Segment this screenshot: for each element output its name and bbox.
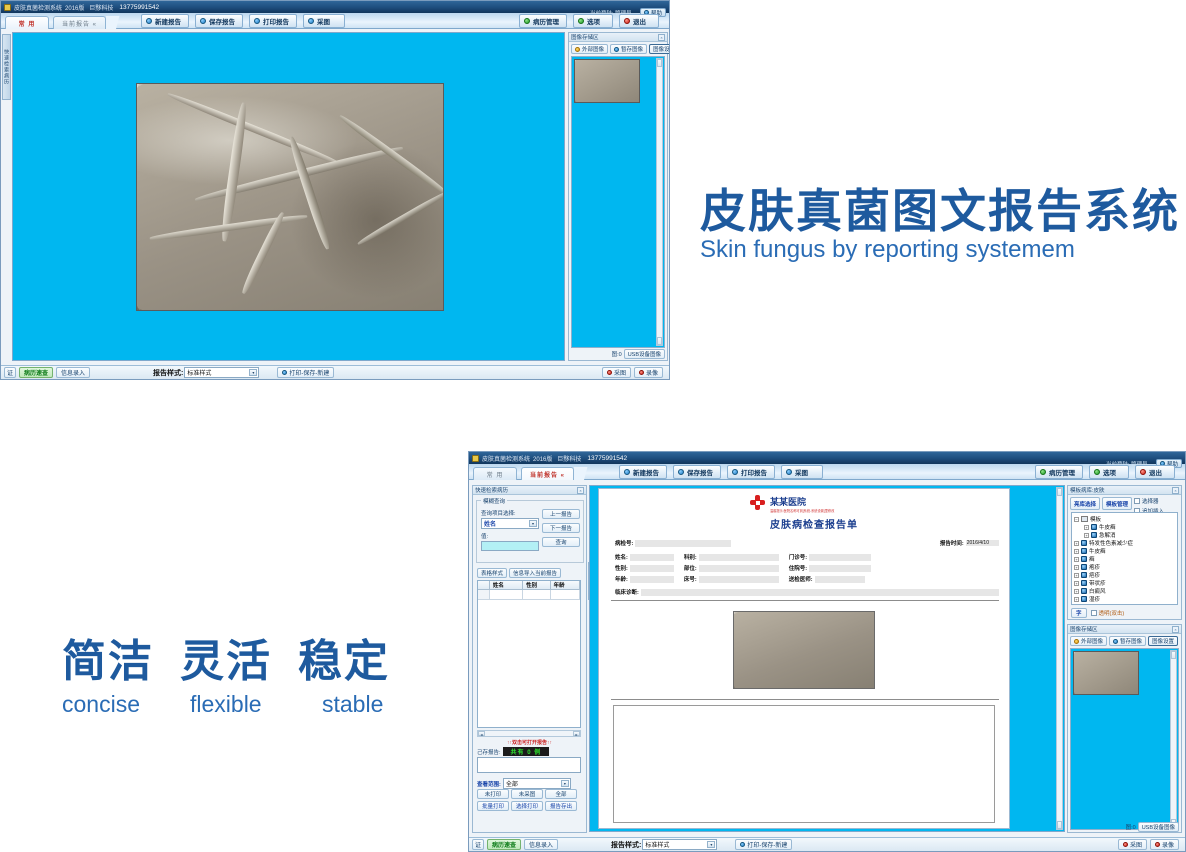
tree-node[interactable]: + 牛皮癣 [1074, 547, 1175, 555]
gender-label: 性别: [615, 564, 628, 572]
marketing-headline-en: Skin fungus by reporting systemem [700, 236, 1180, 264]
print-report-icon [732, 469, 738, 475]
save-report-icon [678, 469, 684, 475]
left-side-strip-label: 快速检索病历 [3, 49, 10, 85]
window2-image-settings-label: 图像设置 [1152, 637, 1174, 645]
report-divider-2 [611, 699, 999, 700]
import-to-report-button[interactable]: 信息导入当前报告 [509, 568, 561, 578]
window2-image-store-close-box[interactable]: × [1172, 626, 1179, 633]
window2-print-save-new-button[interactable]: 打印-保存-新建 [735, 839, 792, 850]
report-canvas-scrollbar[interactable] [1056, 487, 1063, 830]
window2-image-store-header: 图像存储区 × [1068, 625, 1181, 634]
exit-label: 退出 [633, 16, 646, 26]
new-report-button[interactable]: 新建报告 [141, 14, 189, 28]
tree-expand-icon[interactable]: + [1084, 533, 1089, 538]
patient-fields-left: 姓名: 性别: 年龄: [615, 553, 674, 583]
name-label: 姓名: [615, 553, 628, 561]
site-value[interactable] [699, 565, 779, 572]
window2-record-label: 录像 [1162, 840, 1174, 849]
window2-tab-current-report[interactable]: 当前报告 « [521, 467, 574, 480]
diagnosis-label: 临床诊断: [615, 588, 639, 596]
font-button[interactable]: 字 [1071, 608, 1087, 618]
thumbnail-item[interactable] [1073, 651, 1139, 695]
transparent-checkbox[interactable] [1091, 610, 1097, 616]
window2-external-image-label: 外部图像 [1081, 637, 1103, 645]
tree-node-label: 急解消 [1099, 531, 1116, 539]
inpatient-no-field: 住院号: [789, 564, 871, 572]
window2-title-company: 巨黟科技 [557, 454, 581, 463]
feature-cn-2: 灵活 [180, 625, 272, 689]
diagnosis-value[interactable] [641, 589, 999, 596]
hospital-cross-icon [750, 495, 765, 510]
window2-case-management-label: 病历管理 [1049, 467, 1075, 477]
print-save-new-button[interactable]: 打印-保存-新建 [277, 367, 334, 378]
results-col-age: 年龄 [551, 581, 580, 590]
print-report-button[interactable]: 打印报告 [249, 14, 297, 28]
tree-node[interactable]: + 疱疹 [1074, 563, 1175, 571]
book-icon [1081, 540, 1087, 546]
window2-capture-image-label: 采图 [795, 467, 808, 477]
window2-image-store-panel: 图像存储区 × 外部图像 暂存图像 图像设置 [1067, 624, 1182, 833]
patient-fields-right: 门诊号: 住院号: 送检医师: [789, 553, 871, 583]
tree-node[interactable]: + 特发性色素减少症 [1074, 539, 1175, 547]
results-grid-hscroll[interactable]: ◂ ▸ [477, 730, 581, 737]
case-management-label: 病历管理 [533, 16, 559, 26]
book-icon [1081, 564, 1087, 570]
temp-image-label: 暂存图像 [621, 45, 643, 53]
options-icon [1094, 469, 1100, 475]
bed-value[interactable] [699, 576, 779, 583]
diagnosis-field: 临床诊断: [615, 588, 999, 596]
filter-buttons-row: 未打印 未采图 全部 [477, 789, 577, 799]
results-col-name: 姓名 [490, 581, 523, 590]
tree-node-label: 特发性色素减少症 [1089, 539, 1133, 547]
diagnosis-row: 临床诊断: [615, 588, 999, 596]
capture-status-icon [607, 370, 612, 375]
tree-node[interactable]: + 白癜风 [1074, 587, 1175, 595]
search-results-grid[interactable]: 姓名 性别 年龄 [477, 580, 581, 728]
window2-title-phone: 13775991542 [587, 455, 627, 462]
uncaptured-filter-button[interactable]: 未采图 [511, 789, 543, 799]
book-icon [1081, 596, 1087, 602]
tree-expand-icon[interactable]: + [1084, 525, 1089, 530]
cert-label: 证 [7, 368, 13, 377]
window2-quick-search-label: 病历速查 [492, 840, 516, 849]
tree-node-label: 带状疹 [1089, 579, 1106, 587]
window2-print-report-label: 打印报告 [741, 467, 767, 477]
template-tree[interactable]: − 模板 + 牛皮癣 + 急解消 + 特发性色素减少症 + [1071, 512, 1178, 605]
feature-en-2: flexible [190, 691, 298, 718]
font-button-label: 字 [1076, 609, 1082, 617]
record-button[interactable]: 录像 [634, 367, 663, 378]
template-library-close-box[interactable]: × [1172, 487, 1179, 494]
tree-node[interactable]: + 牛皮癣 [1074, 523, 1175, 531]
image-store-footer: 图:0 USB设备图像 [571, 349, 665, 359]
capture-image-button[interactable]: 采图 [303, 14, 345, 28]
quick-search-label: 病历速查 [24, 368, 48, 377]
window2-save-report-button[interactable]: 保存报告 [673, 465, 721, 479]
exit-icon [624, 18, 630, 24]
selector-checkbox-row[interactable]: 选择器 [1134, 497, 1164, 505]
patient-fields-mid: 科别: 部位: 床号: [684, 553, 779, 583]
name-value[interactable] [630, 554, 674, 561]
record-label: 录像 [646, 368, 658, 377]
report-findings-box[interactable] [613, 705, 995, 823]
patient-fields: 姓名: 性别: 年龄: 科别: [615, 553, 999, 583]
tree-expand-icon[interactable]: + [1074, 573, 1079, 578]
view-range-row: 查看范围: 全部 ▾ [477, 778, 571, 789]
image-store-panel: 图像存储区 × 外部图像 暂存图像 图像设置 图:0 USB设备图像 [568, 32, 668, 361]
window2-new-report-button[interactable]: 新建报告 [619, 465, 667, 479]
window2-ribbon-right-buttons: 病历管理 选项 退出 [1035, 465, 1175, 479]
tree-expand-icon[interactable]: + [1074, 581, 1079, 586]
folder-icon [1081, 516, 1088, 522]
stored-report-row: 己存报告: 共有 0 例 [477, 747, 549, 756]
thumbnail-area[interactable] [571, 56, 665, 348]
marketing-features-block: 简洁 灵活 稳定 concise flexible stable [62, 625, 422, 718]
report-style-label: 报告样式: [153, 368, 183, 378]
case-no-field: 病检号: [615, 539, 731, 547]
window2-titlebar: 皮肤真菌检测系统 2016版 巨黟科技 13775991542 [469, 452, 1185, 464]
tab-common-label: 常 用 [19, 19, 36, 28]
all-filter-button[interactable]: 全部 [545, 789, 577, 799]
printer-icon [740, 842, 745, 847]
tree-expand-icon[interactable]: + [1074, 541, 1079, 546]
inpatient-no-value[interactable] [809, 565, 871, 572]
window2-info-entry-label: 信息录入 [529, 840, 553, 849]
book-icon [1081, 556, 1087, 562]
results-grid-header: 姓名 性别 年龄 [478, 581, 580, 590]
tab-current-report-label: 当前报告 « [62, 19, 97, 28]
window2-case-management-button[interactable]: 病历管理 [1035, 465, 1083, 479]
window2-new-report-label: 新建报告 [633, 467, 659, 477]
batch-print-label: 批量打印 [482, 802, 504, 810]
usb-device-image-label: USB设备图像 [628, 350, 661, 358]
window2-title-main: 皮肤真菌检测系统 [482, 454, 530, 463]
capture-status-button[interactable]: 采图 [602, 367, 631, 378]
window2-tab-common-label: 常 用 [487, 470, 504, 479]
capture-icon [308, 18, 314, 24]
template-footer: 字 透明(双击) [1071, 608, 1124, 618]
referring-doctor-label: 送检医师: [789, 575, 813, 583]
window2-exit-button[interactable]: 退出 [1135, 465, 1175, 479]
library-select-label: 亮库选择 [1074, 500, 1096, 508]
tree-node-label: 白癜风 [1089, 587, 1106, 595]
tree-node-label: 癣 [1089, 555, 1095, 563]
case-no-value[interactable] [635, 540, 731, 547]
exit-button[interactable]: 退出 [619, 14, 659, 28]
report-header: 某某医院 温馨提示:医院名称可到[系统-系统设置]里修改 皮肤病检查报告单 [599, 489, 1009, 531]
window-title-version: 2016版 [65, 3, 84, 12]
book-icon [1081, 572, 1087, 578]
usb-device-image-button[interactable]: USB设备图像 [624, 349, 665, 359]
tree-node[interactable]: − 模板 [1074, 515, 1175, 523]
window2-usb-device-image-label: USB设备图像 [1142, 823, 1175, 831]
window2-report-style-value: 标准样式 [645, 840, 669, 849]
chevron-down-icon[interactable]: ▾ [249, 369, 257, 376]
selector-checkbox[interactable] [1134, 498, 1140, 504]
marketing-headline-block: 皮肤真菌图文报告系统 Skin fungus by reporting syst… [700, 186, 1180, 264]
options-label: 选项 [587, 16, 600, 26]
tree-node[interactable]: + 急解消 [1074, 531, 1175, 539]
window2-ribbon: 常 用 当前报告 « 新建报告 保存报告 打印报告 采图 [469, 464, 1185, 480]
record-icon [639, 370, 644, 375]
outpatient-no-label: 门诊号: [789, 553, 807, 561]
feature-en-1: concise [62, 691, 166, 718]
window2-quick-search-button[interactable]: 病历速查 [487, 839, 521, 850]
window2-tab-common[interactable]: 常 用 [473, 467, 517, 480]
template-manage-label: 模板管理 [1106, 500, 1128, 508]
options-button[interactable]: 选项 [573, 14, 613, 28]
tree-expand-icon[interactable]: + [1074, 589, 1079, 594]
department-value[interactable] [699, 554, 779, 561]
window2-image-count-label: 图:0 [1126, 823, 1136, 831]
quick-search-title: 快速检索病历 [475, 486, 508, 494]
template-library-panel: 模板病库:皮肤 × 亮库选择 模板管理 选择器 追加插入 [1067, 485, 1182, 620]
folder-icon [575, 47, 580, 52]
microscope-image [136, 83, 444, 311]
tree-node-label: 牛皮癣 [1099, 523, 1116, 531]
outpatient-no-field: 门诊号: [789, 553, 871, 561]
info-entry-label: 信息录入 [61, 368, 85, 377]
batch-actions-row: 批量打印 选择打印 报告存出 [477, 801, 577, 811]
uncaptured-filter-label: 未采图 [519, 790, 536, 798]
book-icon [1081, 580, 1087, 586]
all-filter-label: 全部 [555, 790, 566, 798]
hospital-subtitle: 温馨提示:医院名称可到[系统-系统设置]里修改 [770, 508, 858, 513]
options-icon [578, 18, 584, 24]
window2-statusbar: 证 病历速查 信息录入 报告样式: 标准样式 ▾ 打印-保存-新建 采图 录像 [469, 837, 1185, 851]
window2-image-store-title: 图像存储区 [1070, 625, 1098, 633]
referring-doctor-field: 送检医师: [789, 575, 871, 583]
window2-capture-status-label: 采图 [1130, 840, 1142, 849]
field-select-dropdown[interactable]: 姓名 ▾ [481, 518, 539, 529]
gender-field: 性别: [615, 564, 674, 572]
thumbnail-scrollbar[interactable] [656, 58, 663, 346]
window2-cert-button[interactable]: 证 [472, 839, 484, 850]
capture-status-label: 采图 [614, 368, 626, 377]
window2-report-style-select[interactable]: 标准样式 ▾ [642, 839, 717, 850]
referring-doctor-value[interactable] [815, 576, 865, 583]
table-style-label: 表格样式 [481, 569, 503, 577]
template-library-title: 模板病库:皮肤 [1070, 486, 1105, 494]
view-range-value: 全部 [506, 779, 518, 788]
department-field: 科别: [684, 553, 779, 561]
tree-node-label: 疱疹 [1089, 563, 1100, 571]
save-report-label: 保存报告 [209, 16, 235, 26]
window2-thumbnail-area[interactable] [1070, 648, 1179, 830]
results-grid-corner [478, 581, 490, 590]
case-management-icon [1040, 469, 1046, 475]
chevron-down-icon[interactable]: ▾ [707, 841, 715, 848]
quick-search-button[interactable]: 病历速查 [19, 367, 53, 378]
cert-button[interactable]: 证 [4, 367, 16, 378]
results-col-gender: 性别 [523, 581, 550, 590]
tree-node[interactable]: + 带状疹 [1074, 579, 1175, 587]
thumbnail-item[interactable] [574, 59, 640, 103]
save-report-button[interactable]: 保存报告 [195, 14, 243, 28]
tree-node[interactable]: + 癣 [1074, 555, 1175, 563]
template-library-header: 模板病库:皮肤 × [1068, 486, 1181, 495]
print-report-label: 打印报告 [263, 16, 289, 26]
window2-exit-label: 退出 [1149, 467, 1162, 477]
report-canvas[interactable]: 某某医院 温馨提示:医院名称可到[系统-系统设置]里修改 皮肤病检查报告单 病检… [589, 485, 1065, 832]
window-titlebar: 皮肤真菌检测系统 2016版 巨黟科技 13775991542 [1, 1, 669, 13]
report-time-label: 报告时间: [940, 539, 964, 547]
window2-tab-current-report-label: 当前报告 « [530, 470, 565, 479]
report-style-select[interactable]: 标准样式 ▾ [184, 367, 259, 378]
chevron-down-icon[interactable]: ▾ [529, 520, 537, 527]
image-settings-label: 图像设置 [653, 45, 670, 53]
window2-options-label: 选项 [1103, 467, 1116, 477]
memo-input[interactable] [477, 757, 581, 773]
hospital-name: 某某医院 [770, 495, 858, 508]
ribbon-tabstrip: 常 用 当前报告 « [1, 15, 130, 29]
window2-report-style-label: 报告样式: [611, 840, 641, 850]
book-icon [1081, 548, 1087, 554]
feature-cn-3: 稳定 [298, 625, 390, 689]
window2-title-version: 2016版 [533, 454, 552, 463]
prev-report-label: 上一报告 [550, 510, 572, 518]
chevron-down-icon[interactable]: ▾ [561, 780, 569, 787]
window2-temp-image-button[interactable]: 暂存图像 [1109, 636, 1146, 646]
window2-record-button[interactable]: 录像 [1150, 839, 1179, 850]
book-icon [1091, 532, 1097, 538]
image-store-close-box[interactable]: × [658, 34, 665, 41]
ribbon-buttons: 新建报告 保存报告 打印报告 采图 [141, 14, 345, 28]
table-row[interactable] [478, 590, 580, 600]
case-management-button[interactable]: 病历管理 [519, 14, 567, 28]
tree-node-label: 疤疹 [1089, 571, 1100, 579]
age-field: 年龄: [615, 575, 674, 583]
quick-search-actions: 表格样式 信息导入当前报告 [477, 568, 561, 578]
tree-expand-icon[interactable]: + [1074, 565, 1079, 570]
case-row: 病检号: 报告时间: 2016/4/10 [615, 539, 999, 547]
search-button[interactable]: 查询 [542, 537, 580, 547]
view-range-select[interactable]: 全部 ▾ [503, 778, 571, 789]
window2-temp-image-label: 暂存图像 [1120, 637, 1142, 645]
export-report-label: 报告存出 [550, 802, 572, 810]
search-label: 查询 [555, 538, 566, 546]
bed-field: 床号: [684, 575, 779, 583]
report-time-field: 报告时间: 2016/4/10 [940, 539, 999, 547]
window2-print-save-new-label: 打印-保存-新建 [747, 840, 787, 849]
folder-icon [1074, 639, 1079, 644]
new-report-icon [146, 18, 152, 24]
tree-expand-icon[interactable]: + [1074, 557, 1079, 562]
window2-save-report-label: 保存报告 [687, 467, 713, 477]
ribbon: 常 用 当前报告 « 新建报告 保存报告 打印报告 采图 [1, 13, 669, 29]
inpatient-no-label: 住院号: [789, 564, 807, 572]
tree-node[interactable]: + 湿疹 [1074, 595, 1175, 603]
feature-cn-1: 简洁 [62, 625, 154, 689]
export-report-button[interactable]: 报告存出 [545, 801, 577, 811]
window2-image-store-toolbar: 外部图像 暂存图像 图像设置 [1068, 634, 1181, 648]
window2-image-store-footer: 图:0 USB设备图像 [1126, 822, 1179, 832]
window2-external-image-button[interactable]: 外部图像 [1070, 636, 1107, 646]
report-style-value: 标准样式 [187, 368, 211, 377]
case-no-label: 病检号: [615, 539, 633, 547]
left-side-strip[interactable]: 快速检索病历 [2, 34, 11, 100]
window2-options-button[interactable]: 选项 [1089, 465, 1129, 479]
image-store-title: 图像存储区 [571, 33, 599, 41]
template-manage-button[interactable]: 模板管理 [1102, 497, 1132, 510]
department-label: 科别: [684, 553, 697, 561]
fuzzy-query-legend: 模糊查询 [481, 497, 507, 505]
age-label: 年龄: [615, 575, 628, 583]
tab-common[interactable]: 常 用 [5, 16, 49, 29]
image-store-toolbar: 外部图像 暂存图像 图像设置 [569, 42, 667, 56]
window2-print-report-button[interactable]: 打印报告 [727, 465, 775, 479]
window2-thumbnail-scrollbar[interactable] [1170, 650, 1177, 828]
print-report-icon [254, 18, 260, 24]
statusbar: 证 病历速查 信息录入 报告样式: 标准样式 ▾ 打印-保存-新建 采图 录像 [1, 365, 669, 379]
window2-image-settings-button[interactable]: 图像设置 [1148, 636, 1178, 646]
quick-search-close-box[interactable]: × [577, 487, 584, 494]
window2-usb-device-image-button[interactable]: USB设备图像 [1138, 822, 1179, 832]
case-management-icon [524, 18, 530, 24]
library-select-button[interactable]: 亮库选择 [1070, 497, 1100, 510]
report-time-value: 2016/4/10 [966, 540, 999, 546]
select-print-button[interactable]: 选择打印 [511, 801, 543, 811]
tree-expand-icon[interactable]: + [1074, 549, 1079, 554]
report-microscope-image[interactable] [733, 611, 875, 689]
window2-capture-status-button[interactable]: 采图 [1118, 839, 1147, 850]
external-image-button[interactable]: 外部图像 [571, 44, 608, 54]
window2-capture-image-button[interactable]: 采图 [781, 465, 823, 479]
next-report-button[interactable]: 下一报告 [542, 523, 580, 533]
quick-search-header: 快速检索病历 × [473, 486, 586, 495]
age-value[interactable] [630, 576, 674, 583]
field-select-label: 查询项目选择: [481, 509, 516, 517]
tree-expand-icon[interactable]: + [1074, 597, 1079, 602]
table-style-button[interactable]: 表格样式 [477, 568, 507, 578]
tree-node-label: 模板 [1090, 515, 1101, 523]
stored-report-count: 共有 0 例 [503, 747, 550, 756]
save-report-icon [200, 18, 206, 24]
value-input[interactable] [481, 541, 539, 551]
temp-image-button[interactable]: 暂存图像 [610, 44, 647, 54]
image-settings-button[interactable]: 图像设置 [649, 44, 670, 54]
lock-icon [472, 455, 479, 462]
transparent-checkbox-row[interactable]: 透明(双击) [1091, 609, 1125, 617]
ribbon-right-buttons: 病历管理 选项 退出 [519, 14, 659, 28]
outpatient-no-value[interactable] [809, 554, 871, 561]
bed-label: 床号: [684, 575, 697, 583]
tab-current-report[interactable]: 当前报告 « [53, 16, 106, 29]
tabstrip-slant [106, 16, 130, 29]
batch-print-button[interactable]: 批量打印 [477, 801, 509, 811]
tree-node[interactable]: + 疤疹 [1074, 571, 1175, 579]
prev-report-button[interactable]: 上一报告 [542, 509, 580, 519]
capture-canvas[interactable] [12, 32, 565, 361]
select-print-label: 选择打印 [516, 802, 538, 810]
book-icon [1091, 524, 1097, 530]
report-page[interactable]: 某某医院 温馨提示:医院名称可到[系统-系统设置]里修改 皮肤病检查报告单 病检… [598, 488, 1010, 829]
window-title-company: 巨黟科技 [89, 3, 113, 12]
next-report-label: 下一报告 [550, 524, 572, 532]
tree-expand-icon[interactable]: − [1074, 517, 1079, 522]
new-report-label: 新建报告 [155, 16, 181, 26]
info-entry-button[interactable]: 信息录入 [56, 367, 90, 378]
gender-value[interactable] [630, 565, 674, 572]
name-field: 姓名: [615, 553, 674, 561]
capture-icon [786, 469, 792, 475]
features-en-row: concise flexible stable [62, 691, 422, 718]
unprinted-filter-button[interactable]: 未打印 [477, 789, 509, 799]
window2-info-entry-button[interactable]: 信息录入 [524, 839, 558, 850]
import-to-report-label: 信息导入当前报告 [513, 569, 557, 577]
